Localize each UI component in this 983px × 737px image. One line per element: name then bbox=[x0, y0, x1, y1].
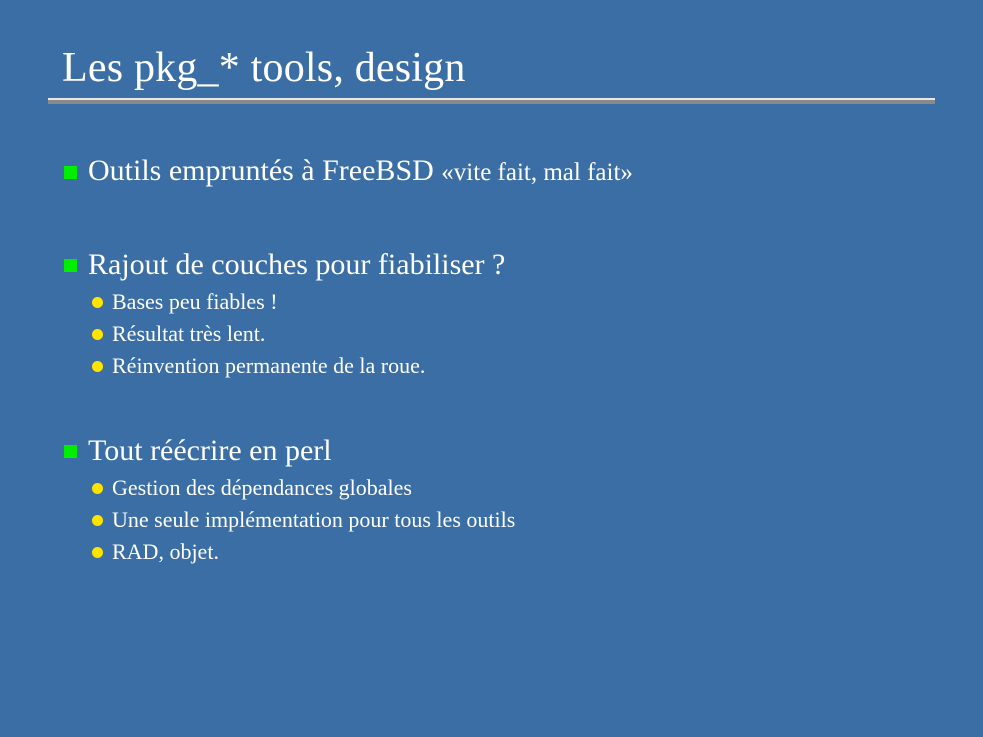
dot-bullet-icon bbox=[92, 547, 112, 558]
page-title: Les pkg_* tools, design bbox=[62, 44, 935, 92]
outline-level2-item: Gestion des dépendances globales bbox=[64, 472, 954, 504]
outline-level2-label: RAD, objet. bbox=[112, 536, 219, 568]
square-bullet-icon bbox=[64, 166, 88, 179]
dot-bullet-icon bbox=[92, 515, 112, 526]
outline-level2-item: Bases peu fiables ! bbox=[64, 286, 954, 318]
outline-level2-label: Résultat très lent. bbox=[112, 318, 265, 350]
outline-level2-list: Bases peu fiables ! Résultat très lent. … bbox=[64, 286, 954, 382]
slide-body-outline: Outils empruntés à FreeBSD «vite fait, m… bbox=[64, 150, 954, 568]
outline-level2-label: Réinvention permanente de la roue. bbox=[112, 350, 425, 382]
outline-group: Rajout de couches pour fiabiliser ? Base… bbox=[64, 244, 954, 382]
outline-level2-label: Bases peu fiables ! bbox=[112, 286, 278, 318]
title-underline-rule bbox=[48, 98, 935, 104]
outline-level2-item: Résultat très lent. bbox=[64, 318, 954, 350]
outline-level1-label: Outils empruntés à FreeBSD «vite fait, m… bbox=[88, 150, 633, 194]
outline-level1-quote: «vite fait, mal fait» bbox=[441, 159, 633, 186]
square-bullet-icon bbox=[64, 445, 88, 458]
slide-title-block: Les pkg_* tools, design bbox=[48, 44, 935, 104]
outline-level1-label: Rajout de couches pour fiabiliser ? bbox=[88, 244, 505, 286]
dot-bullet-icon bbox=[92, 329, 112, 340]
dot-bullet-icon bbox=[92, 297, 112, 308]
outline-level1-text: Outils empruntés à FreeBSD bbox=[88, 154, 441, 187]
outline-group: Tout réécrire en perl Gestion des dépend… bbox=[64, 430, 954, 568]
outline-level2-item: Une seule implémentation pour tous les o… bbox=[64, 504, 954, 536]
dot-bullet-icon bbox=[92, 483, 112, 494]
outline-group: Outils empruntés à FreeBSD «vite fait, m… bbox=[64, 150, 954, 194]
square-bullet-icon bbox=[64, 259, 88, 272]
outline-level2-label: Gestion des dépendances globales bbox=[112, 472, 412, 504]
outline-level2-list: Gestion des dépendances globales Une seu… bbox=[64, 472, 954, 568]
outline-level2-label: Une seule implémentation pour tous les o… bbox=[112, 504, 515, 536]
dot-bullet-icon bbox=[92, 361, 112, 372]
presentation-slide: Les pkg_* tools, design Outils empruntés… bbox=[0, 0, 983, 737]
outline-level2-item: Réinvention permanente de la roue. bbox=[64, 350, 954, 382]
outline-level2-item: RAD, objet. bbox=[64, 536, 954, 568]
outline-level1-item: Rajout de couches pour fiabiliser ? bbox=[64, 244, 954, 286]
outline-level1-item: Tout réécrire en perl bbox=[64, 430, 954, 472]
outline-level1-item: Outils empruntés à FreeBSD «vite fait, m… bbox=[64, 150, 954, 194]
outline-level1-label: Tout réécrire en perl bbox=[88, 430, 332, 472]
